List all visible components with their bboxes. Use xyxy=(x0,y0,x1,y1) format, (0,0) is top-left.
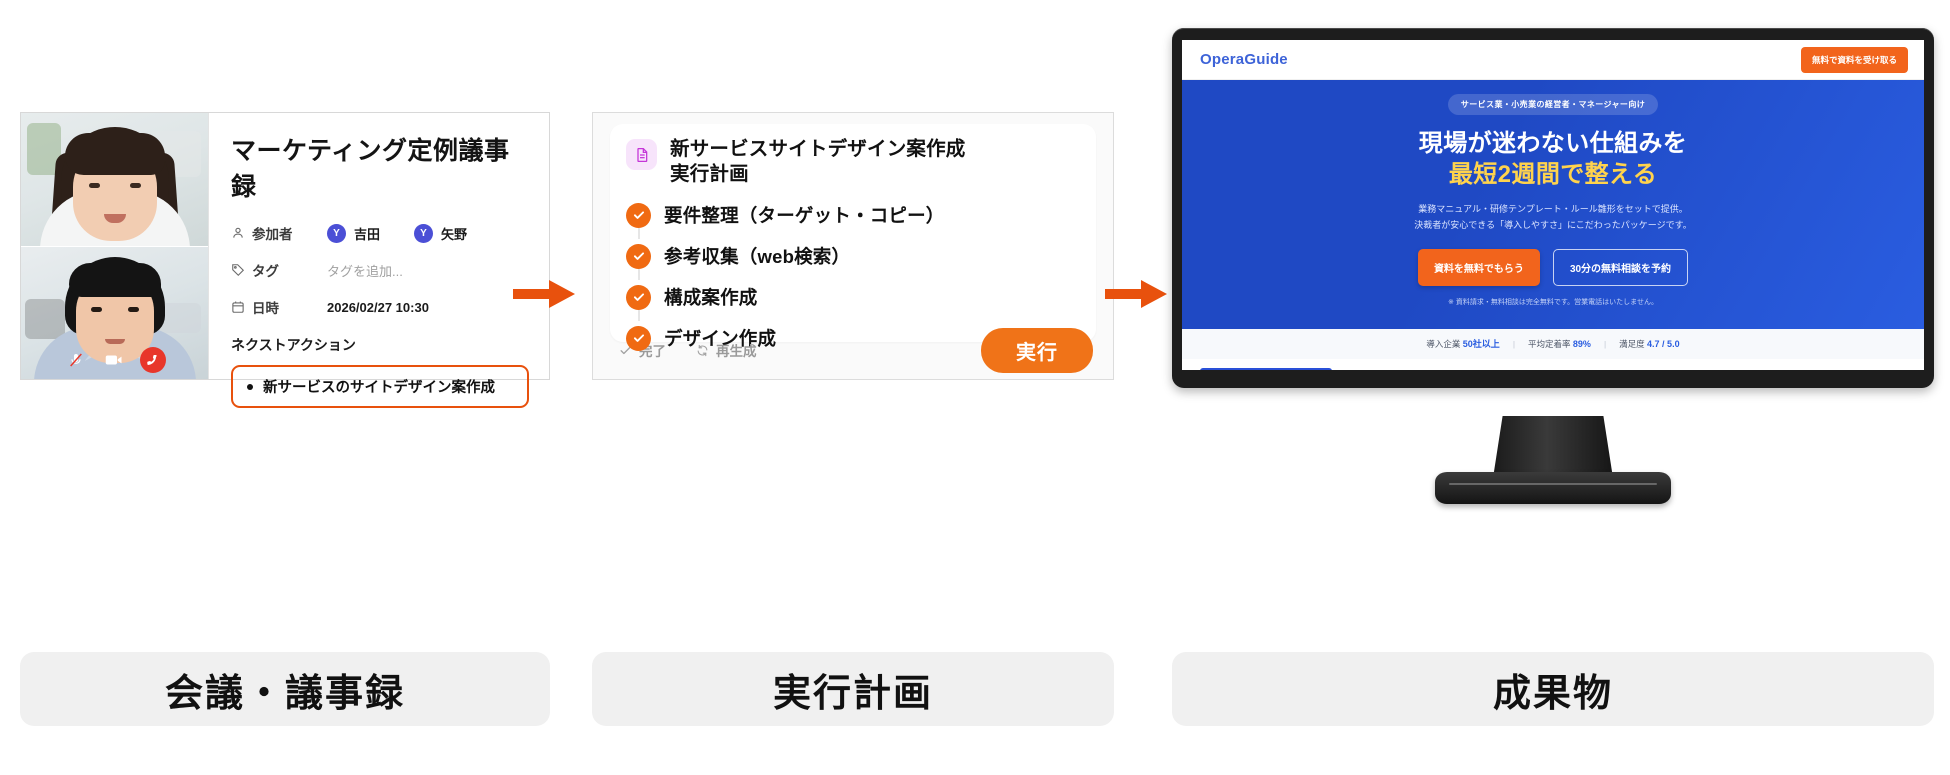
stat-label: 満足度 xyxy=(1619,339,1645,349)
page-title: マーケティング定例議事録 xyxy=(231,131,529,203)
next-action-item: 新サービスのサイトデザイン案作成 xyxy=(263,376,495,397)
headline-line-1: 現場が迷わない仕組みを xyxy=(1182,129,1924,160)
stat-separator: | xyxy=(1604,339,1606,349)
stat-separator: | xyxy=(1513,339,1515,349)
plan-step-label: 要件整理（ターゲット・コピー） xyxy=(664,202,945,228)
plan-title-line-1: 新サービスサイトデザイン案作成 xyxy=(670,137,966,162)
check-circle-icon xyxy=(626,244,651,269)
check-circle-icon xyxy=(626,285,651,310)
flow-arrow-1 xyxy=(513,275,579,313)
stat-item: 満足度 4.7 / 5.0 xyxy=(1619,338,1679,350)
subtext-line-2: 決裁者が安心できる「導入しやすさ」にこだわったパッケージです。 xyxy=(1182,218,1924,234)
plan-step[interactable]: 構成案作成 xyxy=(626,279,1078,316)
meta-row-tags: タグ タグを追加... xyxy=(231,256,529,284)
datetime-value: 2026/02/27 10:30 xyxy=(327,300,429,315)
flow-arrow-2 xyxy=(1105,275,1171,313)
meta-key-label: タグ xyxy=(252,260,279,280)
monitor-mockup: OperaGuide 無料で資料を受け取る サービス業・小売業の経営者・マネージ… xyxy=(1172,28,1934,388)
person-icon xyxy=(231,226,245,240)
header-cta-button[interactable]: 無料で資料を受け取る xyxy=(1801,47,1908,73)
stats-bar: 導入企業 50社以上 | 平均定着率 89% | 満足度 4.7 / 5.0 xyxy=(1182,329,1924,359)
hero-section: サービス業・小売業の経営者・マネージャー向け 現場が迷わない仕組みを 最短2週間… xyxy=(1182,80,1924,329)
plan-footer: 完了 再生成 実行 xyxy=(593,321,1113,379)
participant-chip[interactable]: Y 吉田 xyxy=(327,224,380,243)
document-icon xyxy=(626,139,657,170)
monitor-bezel: OperaGuide 無料で資料を受け取る サービス業・小売業の経営者・マネージ… xyxy=(1172,28,1934,388)
eye-right xyxy=(130,183,141,188)
mic-muted-icon[interactable] xyxy=(64,348,88,372)
background-person xyxy=(25,299,65,339)
meta-key-datetime: 日時 xyxy=(231,297,327,317)
participant-chip[interactable]: Y 矢野 xyxy=(414,224,467,243)
meta-key-participants: 参加者 xyxy=(231,223,327,243)
hero-note: ※ 資料請求・無料相談は完全無料です。営業電話はいたしません。 xyxy=(1182,297,1924,307)
step-connector xyxy=(638,268,640,280)
plan-title: 新サービスサイトデザイン案作成 実行計画 xyxy=(670,137,966,187)
meta-key-tags: タグ xyxy=(231,260,327,280)
avatar: Y xyxy=(414,224,433,243)
regenerate-label: 再生成 xyxy=(716,340,757,360)
video-controls xyxy=(21,347,208,373)
step-connector xyxy=(638,227,640,239)
check-circle-icon xyxy=(626,326,651,351)
stat-value: 50社以上 xyxy=(1463,339,1500,349)
stat-value: 4.7 / 5.0 xyxy=(1647,339,1680,349)
next-action-heading: ネクストアクション xyxy=(231,335,529,355)
stat-label: 導入企業 xyxy=(1426,339,1460,349)
stat-item: 導入企業 50社以上 xyxy=(1426,337,1499,350)
hero-subtext: 業務マニュアル・研修テンプレート・ルール雛形をセットで提供。 決裁者が安心できる… xyxy=(1182,202,1924,234)
regenerate-action[interactable]: 再生成 xyxy=(696,340,757,360)
meta-key-label: 参加者 xyxy=(252,223,293,243)
video-tile-participant-2[interactable] xyxy=(21,246,208,379)
meta-key-label: 日時 xyxy=(252,297,279,317)
stat-label: 平均定着率 xyxy=(1528,339,1571,349)
eye-left xyxy=(91,307,102,312)
meta-row-datetime: 日時 2026/02/27 10:30 xyxy=(231,293,529,321)
subtext-line-1: 業務マニュアル・研修テンプレート・ルール雛形をセットで提供。 xyxy=(1182,202,1924,218)
eye-left xyxy=(89,183,100,188)
calendar-icon xyxy=(231,300,245,314)
hero-headline: 現場が迷わない仕組みを 最短2週間で整える xyxy=(1182,129,1924,190)
hero-primary-cta[interactable]: 資料を無料でもらう xyxy=(1418,249,1540,286)
monitor-stand-base xyxy=(1435,472,1671,504)
monitor-screen: OperaGuide 無料で資料を受け取る サービス業・小売業の経営者・マネージ… xyxy=(1182,40,1924,370)
run-button[interactable]: 実行 xyxy=(981,328,1093,373)
landing-page-header: OperaGuide 無料で資料を受け取る xyxy=(1182,40,1924,80)
fringe xyxy=(69,263,161,297)
monitor-stand-neck xyxy=(1493,416,1613,478)
bullet-icon xyxy=(247,384,253,390)
site-logo[interactable]: OperaGuide xyxy=(1200,51,1288,68)
meeting-minutes-card: マーケティング定例議事録 参加者 Y 吉田 Y xyxy=(20,112,550,380)
minutes-details: マーケティング定例議事録 参加者 Y 吉田 Y xyxy=(209,113,549,379)
end-call-icon[interactable] xyxy=(140,347,166,373)
participant-name: 矢野 xyxy=(441,224,467,243)
step-connector xyxy=(638,309,640,321)
video-tile-participant-1[interactable] xyxy=(21,113,208,246)
headline-line-2: 最短2週間で整える xyxy=(1182,160,1924,191)
section-badge: こんなお悩みはありませんか？ xyxy=(1200,368,1332,370)
meta-row-participants: 参加者 Y 吉田 Y 矢野 xyxy=(231,219,529,247)
check-circle-icon xyxy=(626,203,651,228)
stat-value: 89% xyxy=(1573,339,1591,349)
plan-step[interactable]: 要件整理（ターゲット・コピー） xyxy=(626,197,1078,234)
execution-plan-card: 新サービスサイトデザイン案作成 実行計画 要件整理（ターゲット・コピー） 参考収… xyxy=(592,112,1114,380)
stage-label-meeting: 会議・議事録 xyxy=(20,652,550,726)
eye-right xyxy=(128,307,139,312)
plan-step-label: 構成案作成 xyxy=(664,284,758,310)
participant-name: 吉田 xyxy=(354,224,380,243)
plan-step-label: 参考収集（web検索） xyxy=(664,243,850,269)
tags-input[interactable]: タグを追加... xyxy=(327,261,403,280)
hero-pill-badge: サービス業・小売業の経営者・マネージャー向け xyxy=(1448,94,1658,115)
tag-icon xyxy=(231,263,245,277)
next-action-highlight[interactable]: 新サービスのサイトデザイン案作成 xyxy=(231,365,529,408)
mouth xyxy=(105,339,125,344)
camera-icon[interactable] xyxy=(102,348,126,372)
stage-label-deliverable: 成果物 xyxy=(1172,652,1934,726)
plan-step[interactable]: 参考収集（web検索） xyxy=(626,238,1078,275)
hero-cta-group: 資料を無料でもらう 30分の無料相談を予約 xyxy=(1182,249,1924,286)
stat-item: 平均定着率 89% xyxy=(1528,338,1591,350)
stage-label-plan: 実行計画 xyxy=(592,652,1114,726)
plan-title-line-2: 実行計画 xyxy=(670,162,966,187)
flow-diagram-stage: マーケティング定例議事録 参加者 Y 吉田 Y xyxy=(0,0,1950,775)
plan-body: 新サービスサイトデザイン案作成 実行計画 要件整理（ターゲット・コピー） 参考収… xyxy=(610,124,1096,342)
avatar: Y xyxy=(327,224,346,243)
participants-list: Y 吉田 Y 矢野 xyxy=(327,224,467,243)
video-call-panel xyxy=(21,113,209,379)
hero-secondary-cta[interactable]: 30分の無料相談を予約 xyxy=(1553,249,1688,286)
plan-header: 新サービスサイトデザイン案作成 実行計画 xyxy=(626,137,1078,187)
fringe xyxy=(65,133,165,175)
landing-page-next-section: こんなお悩みはありませんか？ xyxy=(1182,359,1924,370)
